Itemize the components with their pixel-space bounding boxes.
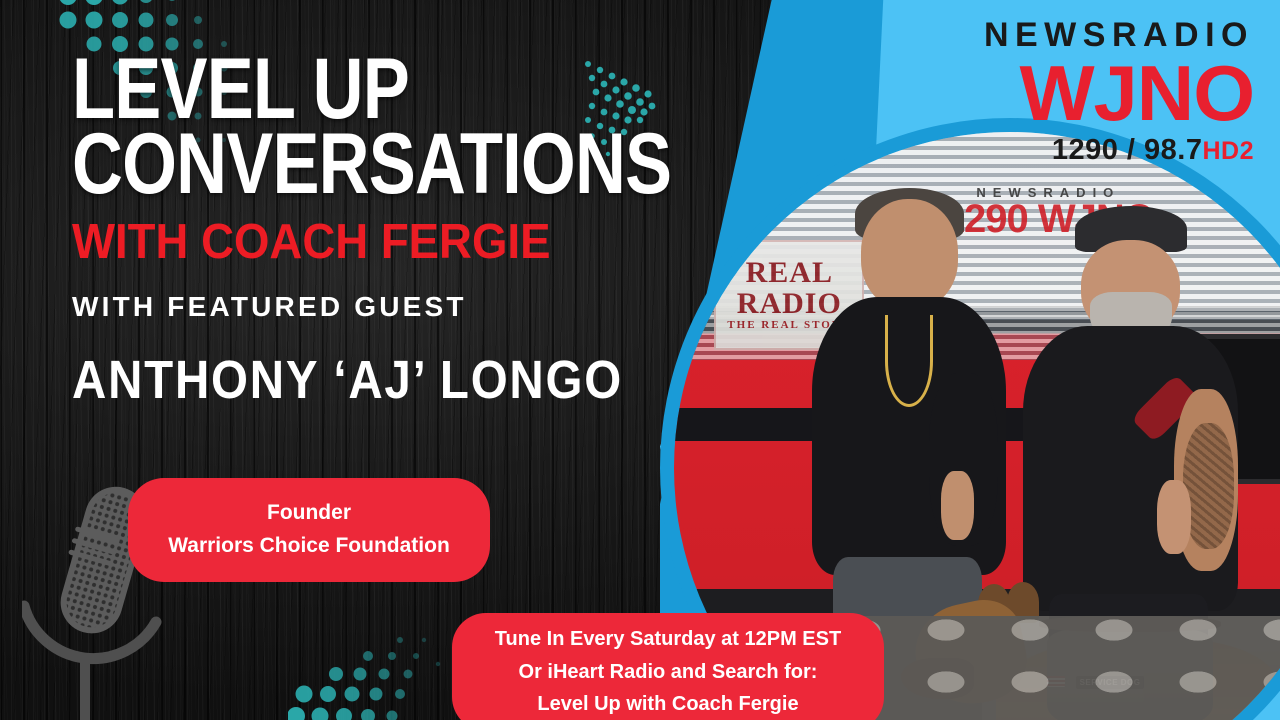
guest-credentials-badge: Founder Warriors Choice Foundation xyxy=(128,478,490,582)
title-line-2: CONVERSATIONS xyxy=(72,127,564,202)
person-b-thumbs-up-hand xyxy=(1157,480,1191,554)
station-logo-brand: NEWSRADIO xyxy=(984,18,1254,52)
guest-credentials-line2: Warriors Choice Foundation xyxy=(168,530,450,563)
tune-in-line2: Or iHeart Radio and Search for: xyxy=(519,656,818,688)
halftone-dot-pattern-bottom-left xyxy=(288,624,468,720)
person-a-head xyxy=(861,199,958,309)
promo-poster: REAL RADIO THE REAL STORY NEWSRADIO 1290… xyxy=(0,0,1280,720)
headline-block: LEVEL UP CONVERSATIONS WITH COACH FERGIE… xyxy=(72,52,672,411)
tune-in-line1: Tune In Every Saturday at 12PM EST xyxy=(495,623,841,655)
station-logo-hd-suffix: HD2 xyxy=(1202,137,1254,165)
station-logo-frequency-value: 1290 / 98.7 xyxy=(1052,134,1203,166)
station-logo-callsign: WJNO xyxy=(979,54,1254,132)
guest-credentials-line1: Founder xyxy=(267,497,351,530)
featured-guest-name: ANTHONY ‘AJ’ LONGO xyxy=(72,349,600,411)
tune-in-badge: Tune In Every Saturday at 12PM EST Or iH… xyxy=(452,613,884,720)
tune-in-line3: Level Up with Coach Fergie xyxy=(537,688,798,720)
featured-guest-label: WITH FEATURED GUEST xyxy=(72,291,672,323)
person-a-thumbs-up-hand xyxy=(941,471,973,540)
show-subtitle: WITH COACH FERGIE xyxy=(72,218,630,267)
station-logo-frequency: 1290 / 98.7HD2 xyxy=(984,136,1254,165)
station-logo: NEWSRADIO WJNO 1290 / 98.7HD2 xyxy=(984,18,1254,165)
